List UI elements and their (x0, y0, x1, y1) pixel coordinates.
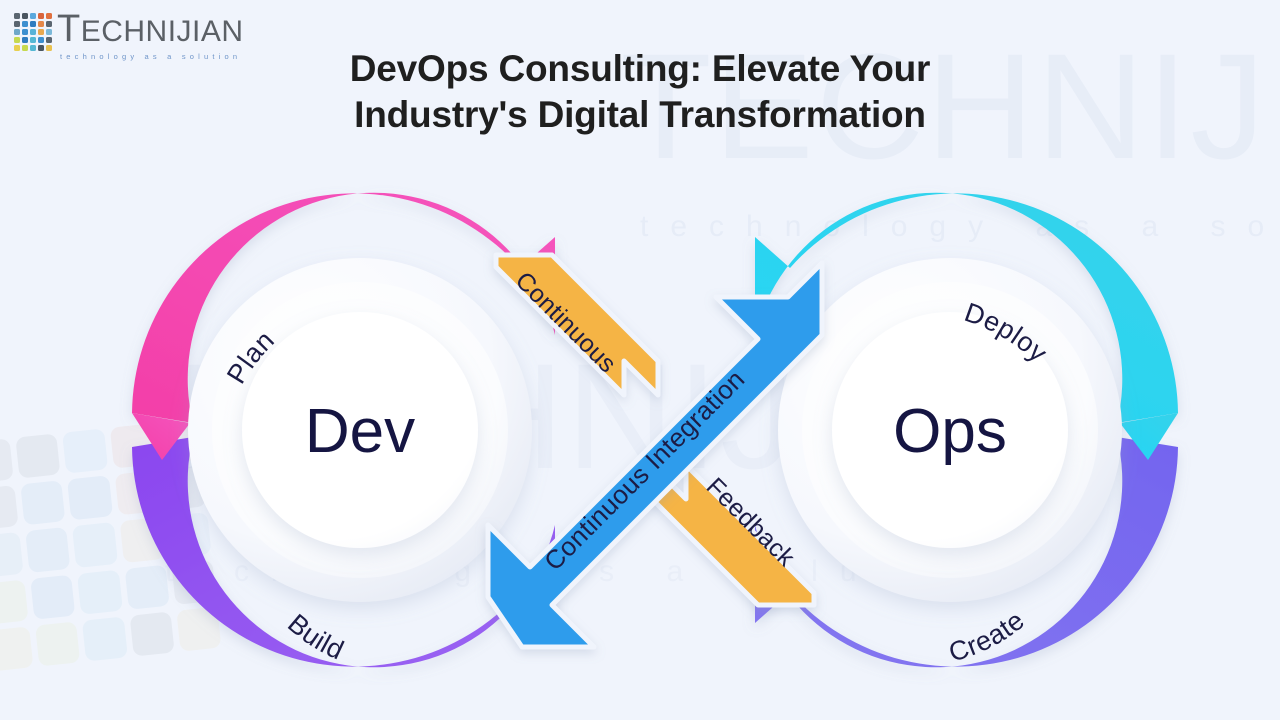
logo-grid-icon (14, 13, 52, 51)
logo-grid-cell-11 (22, 29, 28, 35)
logo-grid-cell-13 (38, 29, 44, 35)
logo-grid-cell-23 (38, 45, 44, 51)
logo-grid-cell-19 (46, 37, 52, 43)
logo-grid-cell-10 (14, 29, 20, 35)
logo-tagline: technology as a solution (60, 52, 244, 61)
logo-grid-cell-21 (22, 45, 28, 51)
logo-grid-cell-6 (22, 21, 28, 27)
page-title-line1: DevOps Consulting: Elevate Your (240, 46, 1040, 92)
watermark-grid-cell-20 (0, 626, 34, 671)
slide-canvas: TECHNIJIAN technology as a solution TECH… (0, 0, 1280, 720)
logo-grid-cell-0 (14, 13, 20, 19)
watermark-grid-cell-11 (25, 527, 70, 572)
logo-grid-cell-5 (14, 21, 20, 27)
watermark-grid-cell-15 (0, 579, 29, 624)
watermark-grid-cell-1 (16, 433, 61, 478)
logo-grid-cell-2 (30, 13, 36, 19)
logo-grid-cell-12 (30, 29, 36, 35)
logo-name: TECHNIJIAN (57, 10, 244, 48)
logo-grid-cell-24 (46, 45, 52, 51)
watermark-grid-cell-10 (0, 532, 24, 577)
logo-name-rest: ECHNIJIAN (81, 15, 244, 48)
logo-grid-cell-8 (38, 21, 44, 27)
logo-grid-cell-7 (30, 21, 36, 27)
watermark-grid-cell-5 (0, 485, 19, 530)
logo-grid-cell-18 (38, 37, 44, 43)
logo-grid-cell-22 (30, 45, 36, 51)
logo-grid-cell-1 (22, 13, 28, 19)
watermark-grid-cell-21 (35, 621, 80, 666)
watermark-grid-cell-0 (0, 438, 14, 483)
stage-label-create: Create (945, 605, 1030, 668)
logo-grid-cell-9 (46, 21, 52, 27)
dev-core-label: Dev (305, 397, 415, 466)
logo-grid-cell-14 (46, 29, 52, 35)
logo-grid-cell-16 (22, 37, 28, 43)
logo-grid-cell-15 (14, 37, 20, 43)
logo-name-lead: T (57, 8, 81, 50)
page-title-line2: Industry's Digital Transformation (240, 92, 1040, 138)
brand-logo: TECHNIJIAN technology as a solution (14, 10, 244, 61)
watermark-grid-cell-6 (20, 480, 65, 525)
logo-wordmark: TECHNIJIAN technology as a solution (57, 10, 244, 61)
logo-grid-cell-3 (38, 13, 44, 19)
logo-grid-cell-20 (14, 45, 20, 51)
watermark-grid-cell-16 (30, 574, 75, 619)
logo-grid-cell-4 (46, 13, 52, 19)
ops-core-label: Ops (893, 397, 1007, 466)
logo-grid-cell-17 (30, 37, 36, 43)
page-title: DevOps Consulting: Elevate Your Industry… (240, 46, 1040, 138)
devops-infinity-diagram: Dev Ops (100, 170, 1210, 690)
